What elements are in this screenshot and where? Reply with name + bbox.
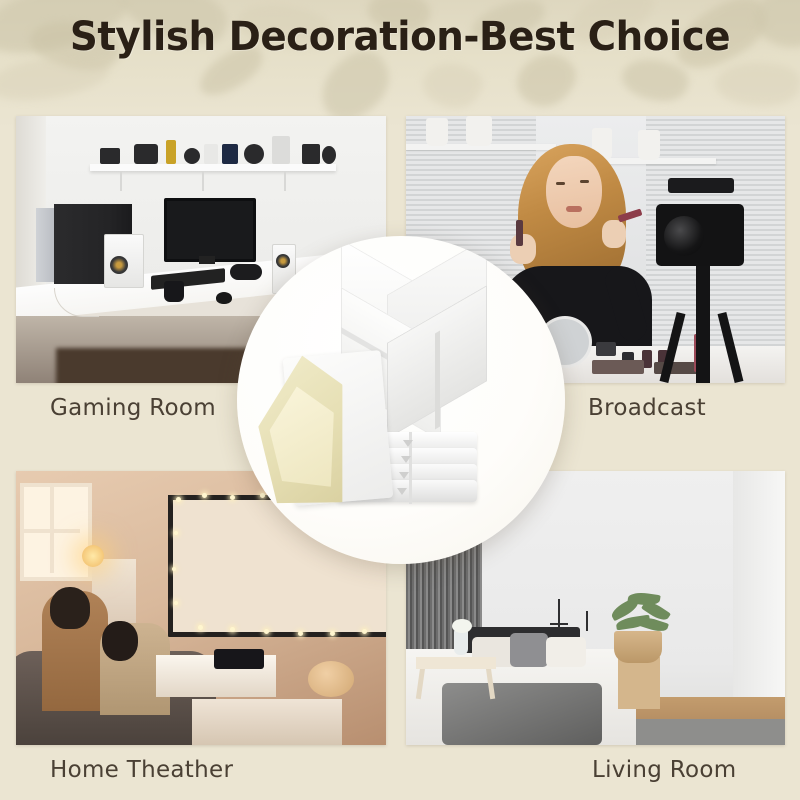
caption-gaming-room: Gaming Room xyxy=(50,395,216,421)
caption-living-room: Living Room xyxy=(592,757,737,783)
promo-graphic: Stylish Decoration-Best Choice xyxy=(0,0,800,800)
caption-broadcast: Broadcast xyxy=(588,395,706,421)
page-title: Stylish Decoration-Best Choice xyxy=(12,14,788,60)
caption-home-theater: Home Theather xyxy=(50,757,233,783)
product-circle-callout xyxy=(237,236,565,564)
